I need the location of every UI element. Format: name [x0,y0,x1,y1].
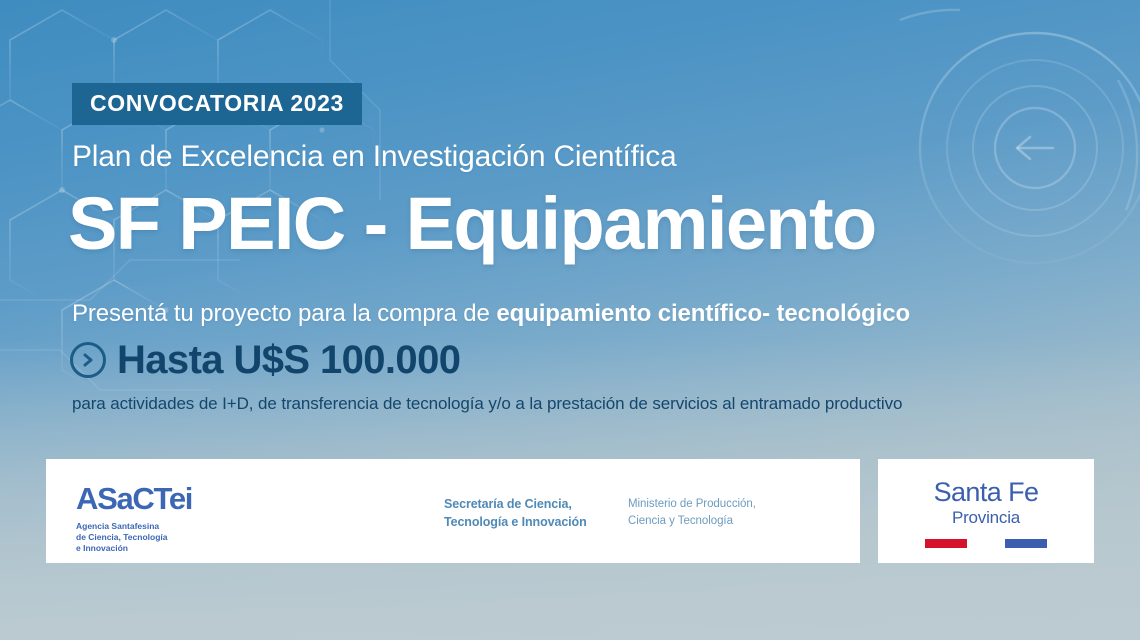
pitch-line: Presentá tu proyecto para la compra de e… [72,300,910,328]
amount-row: Hasta U$S 100.000 [70,340,460,380]
pitch-prefix: Presentá tu proyecto para la compra de [72,300,496,327]
santa-fe-name: Santa Fe [878,479,1094,506]
program-subtitle: Plan de Excelencia en Investigación Cien… [72,140,677,174]
convocatoria-badge: CONVOCATORIA 2023 [72,83,362,125]
asactei-logo: ASaCTei Agencia Santafesina de Ciencia, … [76,483,192,555]
secretaria-logo-text: Secretaría de Ciencia, Tecnología e Inno… [444,495,587,531]
institutional-logo-panel: ASaCTei Agencia Santafesina de Ciencia, … [46,459,860,563]
pitch-highlight: equipamiento científico- tecnológico [496,300,910,327]
promotional-poster: CONVOCATORIA 2023 Plan de Excelencia en … [0,0,1140,640]
chevron-right-circle-icon [70,342,106,378]
santa-fe-flag-bars [878,539,1094,548]
ministerio-logo-text: Ministerio de Producción, Ciencia y Tecn… [628,496,756,531]
amount-detail-text: para actividades de I+D, de transferenci… [72,394,902,414]
santa-fe-blue-bar [1005,539,1047,548]
santa-fe-subtitle: Provincia [878,509,1094,526]
asactei-subtitle: Agencia Santafesina de Ciencia, Tecnolog… [76,521,192,555]
logo-strip: ASaCTei Agencia Santafesina de Ciencia, … [46,459,1094,563]
amount-value: Hasta U$S 100.000 [117,340,460,380]
santa-fe-red-bar [925,539,967,548]
poster-title: SF PEIC - Equipamiento [68,186,876,261]
santa-fe-logo-panel: Santa Fe Provincia [878,459,1094,563]
asactei-wordmark: ASaCTei [76,483,192,514]
santa-fe-logo: Santa Fe Provincia [878,479,1094,548]
